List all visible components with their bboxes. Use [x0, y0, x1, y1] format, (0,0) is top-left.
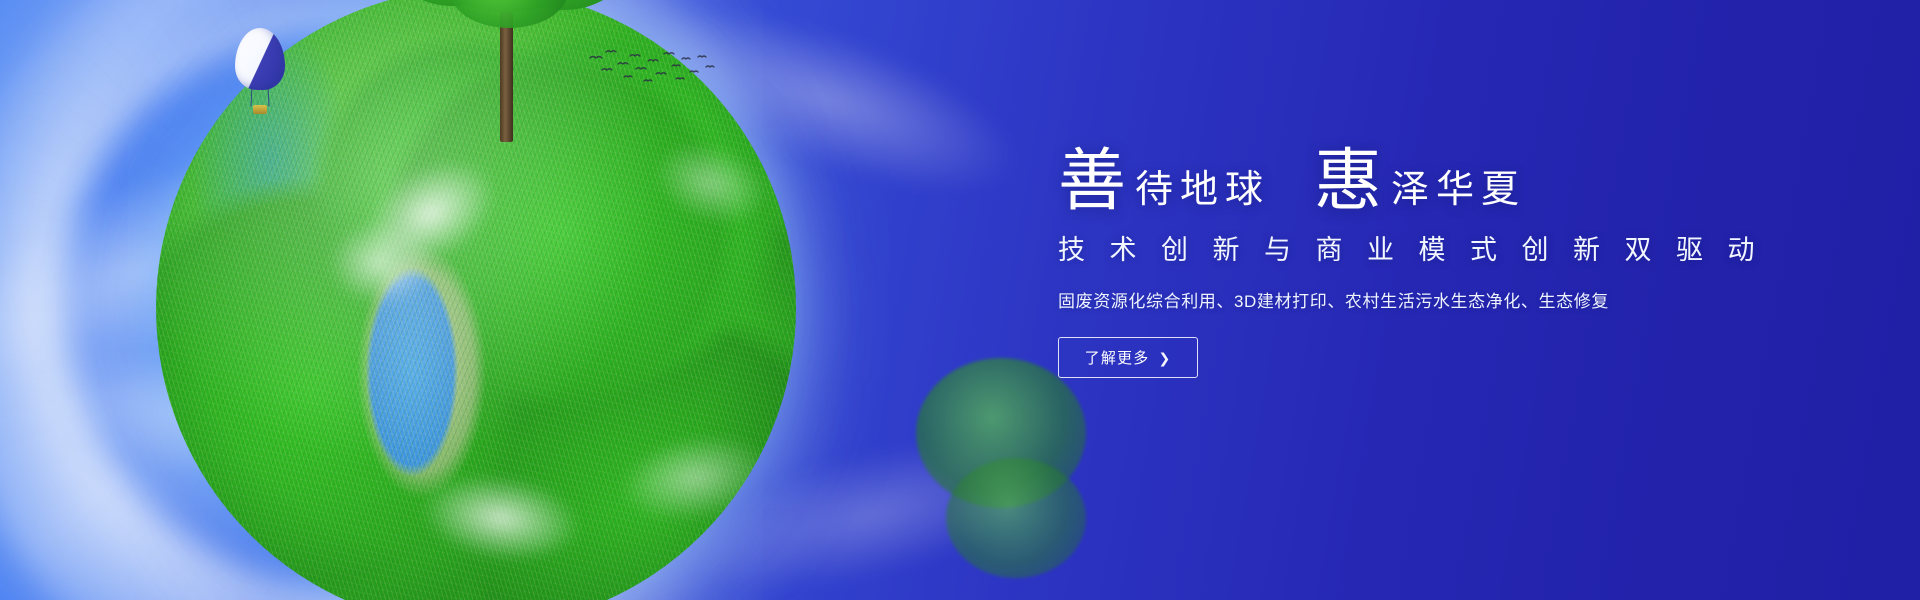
chevron-right-icon: ❯	[1158, 351, 1171, 365]
hero-banner: 善 待地球 惠 泽华夏 技 术 创 新 与 商 业 模 式 创 新 双 驱 动 …	[0, 0, 1920, 600]
banner-description: 固废资源化综合利用、3D建材打印、农村生活污水生态净化、生态修复	[1058, 287, 1758, 312]
surface-cloud	[613, 104, 796, 261]
headline-secondary-first: 待地球	[1135, 171, 1270, 214]
rim-tree-icon	[946, 458, 1086, 578]
balloon-basket	[253, 105, 267, 114]
tree-trunk	[500, 12, 513, 142]
learn-more-button[interactable]: 了解更多 ❯	[1058, 337, 1198, 378]
hot-air-balloon-icon	[235, 28, 287, 116]
headline-secondary-second: 泽华夏	[1391, 171, 1526, 214]
banner-subtitle: 技 术 创 新 与 商 业 模 式 创 新 双 驱 动	[1058, 228, 1758, 267]
learn-more-label: 了解更多	[1085, 347, 1150, 368]
headline-primary-second: 惠	[1314, 149, 1383, 214]
balloon-cords	[251, 87, 270, 107]
surface-cloud	[306, 203, 456, 323]
tree-canopy	[450, 0, 568, 28]
balloon-envelope	[235, 28, 285, 90]
bird-flock-icon	[586, 48, 716, 88]
page-title: 善 待地球 惠 泽华夏	[1058, 130, 1758, 214]
banner-content: 善 待地球 惠 泽华夏 技 术 创 新 与 商 业 模 式 创 新 双 驱 动 …	[1058, 130, 1758, 378]
surface-cloud	[379, 443, 623, 594]
headline-primary-first: 善	[1058, 149, 1127, 214]
